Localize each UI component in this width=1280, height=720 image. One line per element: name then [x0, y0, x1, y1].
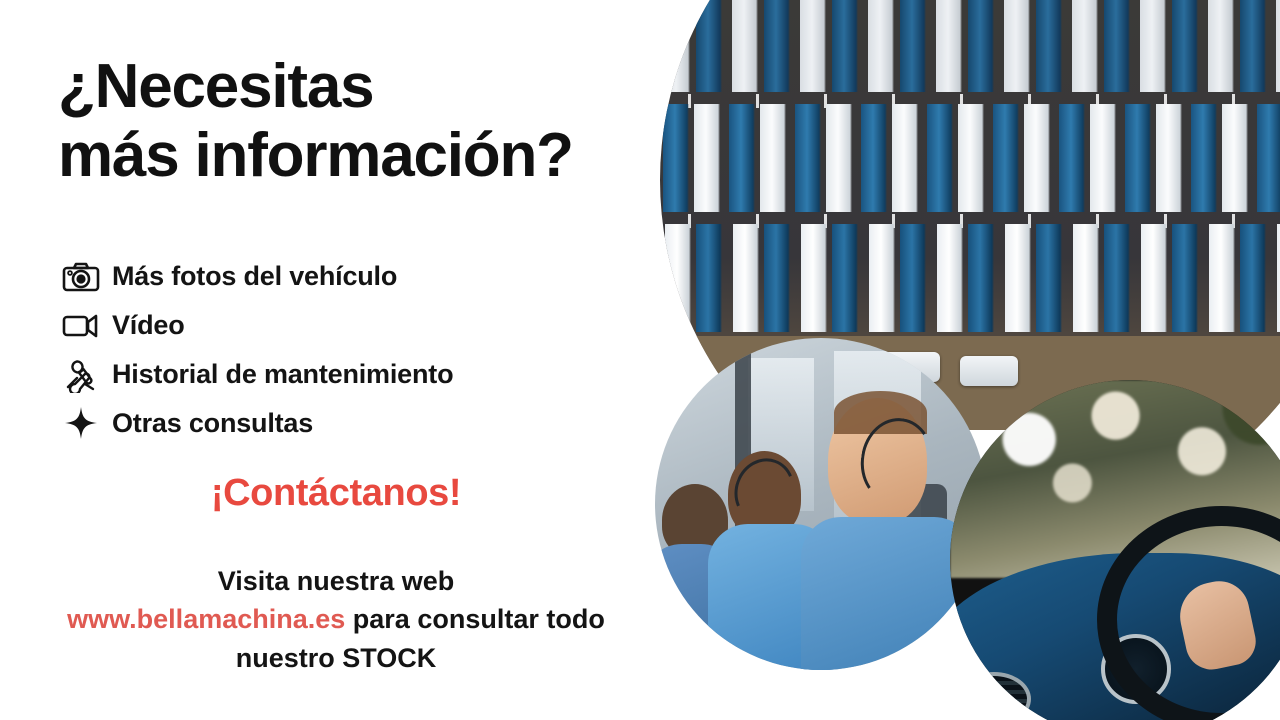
website-url[interactable]: www.bellamachina.es: [67, 604, 345, 634]
office-window: [834, 351, 920, 524]
contact-cta-text: ¡Contáctanos!: [0, 472, 672, 515]
agent-hair: [834, 391, 927, 434]
website-line-3: nuestro STOCK: [0, 639, 672, 677]
headset-icon: [725, 449, 803, 531]
office-frame: [735, 345, 752, 531]
website-line-1: Visita nuestra web: [0, 562, 672, 600]
air-vent: [957, 672, 1031, 720]
aerial-car-lot-photo: [660, 0, 1280, 530]
list-item: Más fotos del vehículo: [50, 252, 670, 301]
agent-head: [828, 398, 928, 524]
promo-poster: ¿Necesitas más información? Más fotos de…: [0, 0, 1280, 720]
lot-marking: [660, 214, 1280, 228]
driving-pov-photo: [950, 380, 1280, 720]
benefits-list: Más fotos del vehículo Vídeo: [50, 252, 670, 448]
website-line-2: www.bellamachina.es para consultar todo: [0, 600, 672, 638]
lot-pavement: [660, 336, 1280, 430]
office-window: [748, 358, 814, 511]
poster-text-content: ¿Necesitas más información? Más fotos de…: [0, 0, 680, 720]
page-title: ¿Necesitas más información?: [58, 52, 678, 191]
call-center-photo: [655, 338, 987, 670]
website-line-2-rest: para consultar todo: [345, 604, 605, 634]
list-item: Vídeo: [50, 301, 670, 350]
car-row: [660, 104, 1280, 212]
agent-head: [728, 451, 801, 537]
speedometer-gauge: [1101, 634, 1171, 704]
driver-hand: [1174, 576, 1260, 675]
windshield-view: [950, 380, 1280, 578]
list-item-label: Más fotos del vehículo: [112, 261, 397, 292]
sparkle-icon: [50, 406, 112, 442]
list-item-label: Otras consultas: [112, 408, 313, 439]
agent-body: [708, 524, 834, 670]
car-row: [660, 0, 1280, 92]
parked-van: [960, 356, 1018, 386]
list-item-label: Vídeo: [112, 310, 185, 341]
headset-icon: [855, 413, 939, 508]
tools-icon: [50, 357, 112, 393]
car-dashboard: [950, 553, 1280, 720]
camera-icon: [50, 261, 112, 293]
agent-body: [801, 517, 974, 670]
list-item: Historial de mantenimiento: [50, 350, 670, 399]
website-info: Visita nuestra web www.bellamachina.es p…: [0, 562, 672, 677]
car-row: [660, 224, 1280, 332]
list-item-label: Historial de mantenimiento: [112, 359, 453, 390]
lot-marking: [660, 94, 1280, 108]
car-lot-image-content: [660, 0, 1280, 430]
video-camera-icon: [50, 312, 112, 340]
steering-wheel: [1097, 506, 1280, 720]
office-monitor: [861, 484, 947, 537]
list-item: Otras consultas: [50, 399, 670, 448]
parked-van: [882, 352, 940, 382]
